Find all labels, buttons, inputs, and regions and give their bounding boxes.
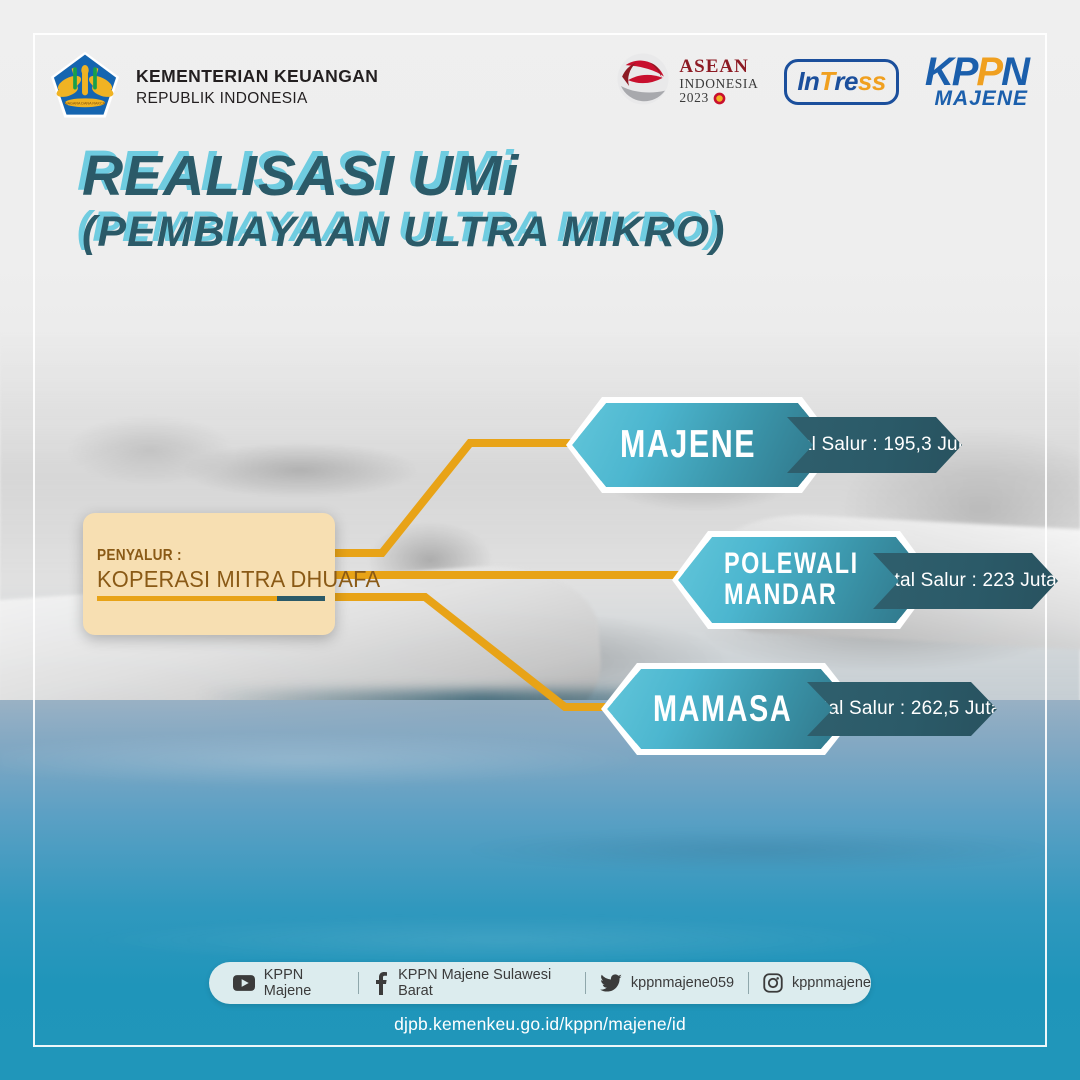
website-url[interactable]: djpb.kemenkeu.go.id/kppn/majene/id [0,1014,1080,1035]
social-handle-instagram: kppnmajene [792,975,871,991]
region-amount-polewali: Total Salur : 223 Juta [874,570,1057,592]
region-name-majene: MAJENE [620,425,756,465]
connector-to-majene [330,443,585,553]
social-separator-1 [358,972,359,994]
region-card-polewali-mandar[interactable]: Total Salur : 223 Juta POLEWALI MANDAR [678,537,930,623]
social-separator-3 [748,972,749,994]
region-amount-badge-majene: Total Salur : 195,3 Juta [787,417,962,473]
social-handle-youtube: KPPN Majene [264,967,344,999]
title-line1: REALISASI UMi [82,144,519,208]
instagram-icon [763,973,783,993]
social-item-youtube[interactable]: KPPN Majene [233,967,344,999]
region-amount-badge-polewali: Total Salur : 223 Juta [873,553,1058,609]
region-name-polewali-mandar: POLEWALI MANDAR [724,549,859,610]
social-handle-twitter: kppnmajene059 [631,975,734,991]
social-separator-2 [585,972,586,994]
social-media-bar: KPPN Majene KPPN Majene Sulawesi Barat k… [209,962,871,1004]
penyalur-name: KOPERASI MITRA DHUAFA [97,566,323,593]
title-line2: (PEMBIAYAAN ULTRA MIKRO) [82,208,725,256]
connector-to-mamasa [330,597,620,707]
region-card-majene[interactable]: Total Salur : 195,3 Juta MAJENE [572,403,832,487]
social-item-twitter[interactable]: kppnmajene059 [600,974,734,992]
penyalur-label: PENYALUR : [97,547,306,565]
social-item-facebook[interactable]: KPPN Majene Sulawesi Barat [373,967,571,999]
region-card-mamasa[interactable]: Total Salur : 262,5 Juta MAMASA [607,669,855,749]
facebook-icon [373,971,389,995]
social-handle-facebook: KPPN Majene Sulawesi Barat [398,967,571,999]
region-name-mamasa: MAMASA [653,690,792,728]
youtube-icon [233,975,255,991]
infographic-canvas: NAGARA DANA RAKCA KEMENTERIAN KEUANGAN R… [0,0,1080,1080]
penyalur-source-box: PENYALUR : KOPERASI MITRA DHUAFA [83,513,335,635]
penyalur-underline [97,596,325,601]
social-item-instagram[interactable]: kppnmajene [763,973,871,993]
region-amount-badge-mamasa: Total Salur : 262,5 Juta [807,682,997,736]
twitter-icon [600,974,622,992]
